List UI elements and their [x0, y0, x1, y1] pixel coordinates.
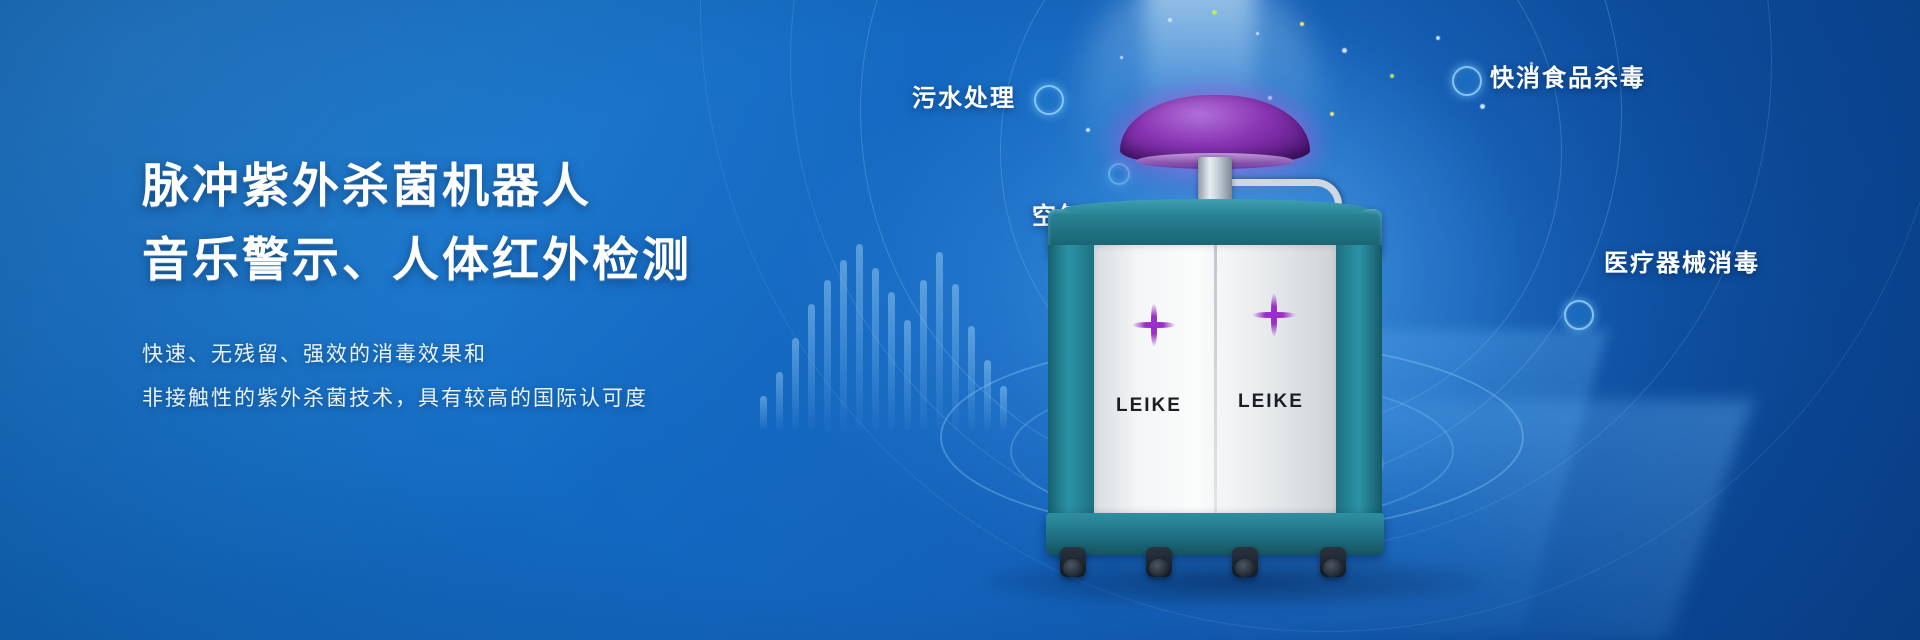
hero-subtext: 快速、无残留、强效的消毒效果和 非接触性的紫外杀菌技术，具有较高的国际认可度 [142, 332, 902, 420]
caster-wheel [1146, 547, 1172, 577]
product-robot: LEIKE LEIKE [1020, 95, 1440, 585]
subtext-line-1: 快速、无残留、强效的消毒效果和 [142, 332, 902, 376]
hero-banner: 脉冲紫外杀菌机器人 音乐警示、人体红外检测 快速、无残留、强效的消毒效果和 非接… [0, 0, 1920, 640]
ring-marker [1564, 300, 1594, 330]
caster-wheel [1320, 547, 1346, 577]
particle [1480, 104, 1485, 109]
particle [1168, 18, 1172, 22]
brand-label-left: LEIKE [1116, 395, 1182, 417]
feature-label-text: 医疗器械消毒 [1604, 243, 1760, 278]
particle [1436, 36, 1440, 40]
caster-wheel [1232, 547, 1258, 577]
uv-sparkle-icon [1252, 293, 1296, 337]
subtext-line-2: 非接触性的紫外杀菌技术，具有较高的国际认可度 [142, 376, 902, 420]
feature-label-wastewater: 污水处理 [912, 78, 1016, 113]
caster-wheel [1060, 547, 1086, 577]
cabinet-side-right [1336, 245, 1382, 523]
feature-label-text: 快消食品杀毒 [1490, 58, 1646, 93]
headline-line-1: 脉冲紫外杀菌机器人 [142, 150, 902, 224]
particle [1212, 10, 1217, 15]
headline-line-2: 音乐警示、人体红外检测 [142, 224, 902, 298]
particle [1256, 32, 1259, 35]
particle [1120, 56, 1123, 59]
brand-label-right: LEIKE [1238, 391, 1304, 413]
feature-label-food-disinfection: 快消食品杀毒 [1490, 58, 1646, 93]
panel-divider [1214, 245, 1217, 523]
feature-label-medical-device-sterilization: 医疗器械消毒 [1604, 243, 1760, 278]
ring-marker [1452, 66, 1482, 96]
feature-label-text: 污水处理 [912, 78, 1016, 113]
particle [1390, 74, 1394, 78]
uv-sparkle-icon [1132, 303, 1176, 347]
hero-copy: 脉冲紫外杀菌机器人 音乐警示、人体红外检测 快速、无残留、强效的消毒效果和 非接… [142, 150, 902, 420]
particle [1342, 48, 1347, 53]
particle [1300, 22, 1304, 26]
cabinet-side-left [1048, 245, 1094, 523]
